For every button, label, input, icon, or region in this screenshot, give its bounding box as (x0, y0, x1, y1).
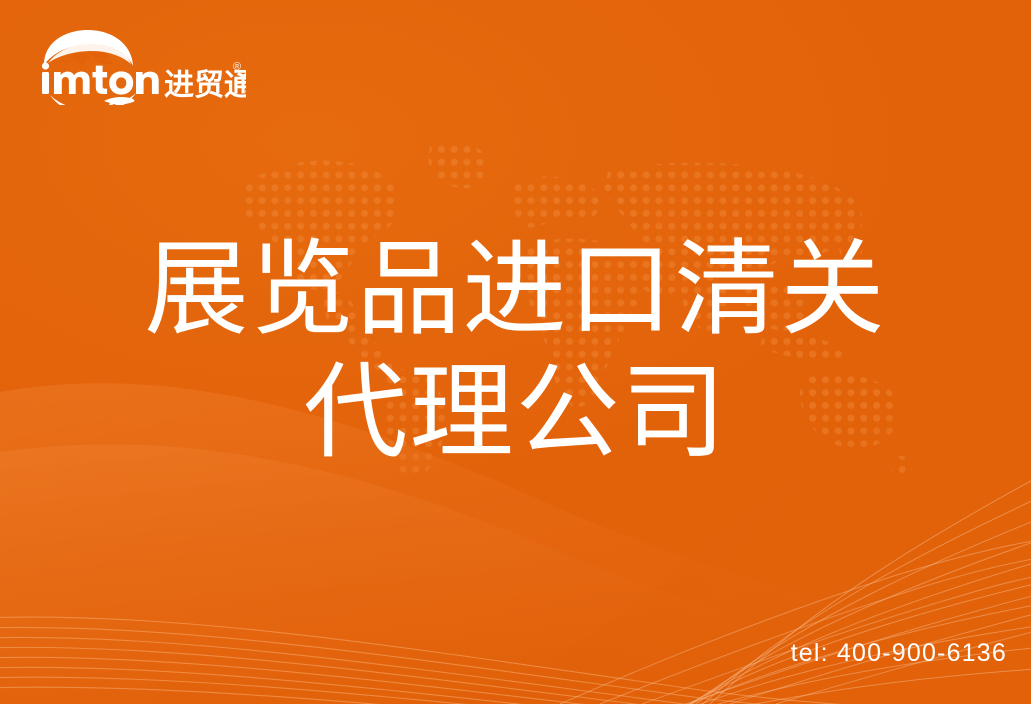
contact-phone[interactable]: tel: 400-900-6136 (791, 639, 1007, 668)
wordmark-imton (42, 62, 159, 94)
svg-text:进贸通: 进贸通 (164, 68, 246, 103)
promo-banner: 进贸通 ® 展览品进口清关 代理公司 tel: 400-900-6136 (0, 0, 1031, 704)
globe-dome-icon (44, 30, 133, 66)
wave-decoration (0, 0, 1031, 704)
logo[interactable]: 进贸通 ® (36, 27, 246, 105)
logo-chinese-name: 进贸通 ® (164, 61, 246, 103)
svg-text:®: ® (233, 61, 241, 73)
swoosh-plane-icon (50, 93, 136, 105)
